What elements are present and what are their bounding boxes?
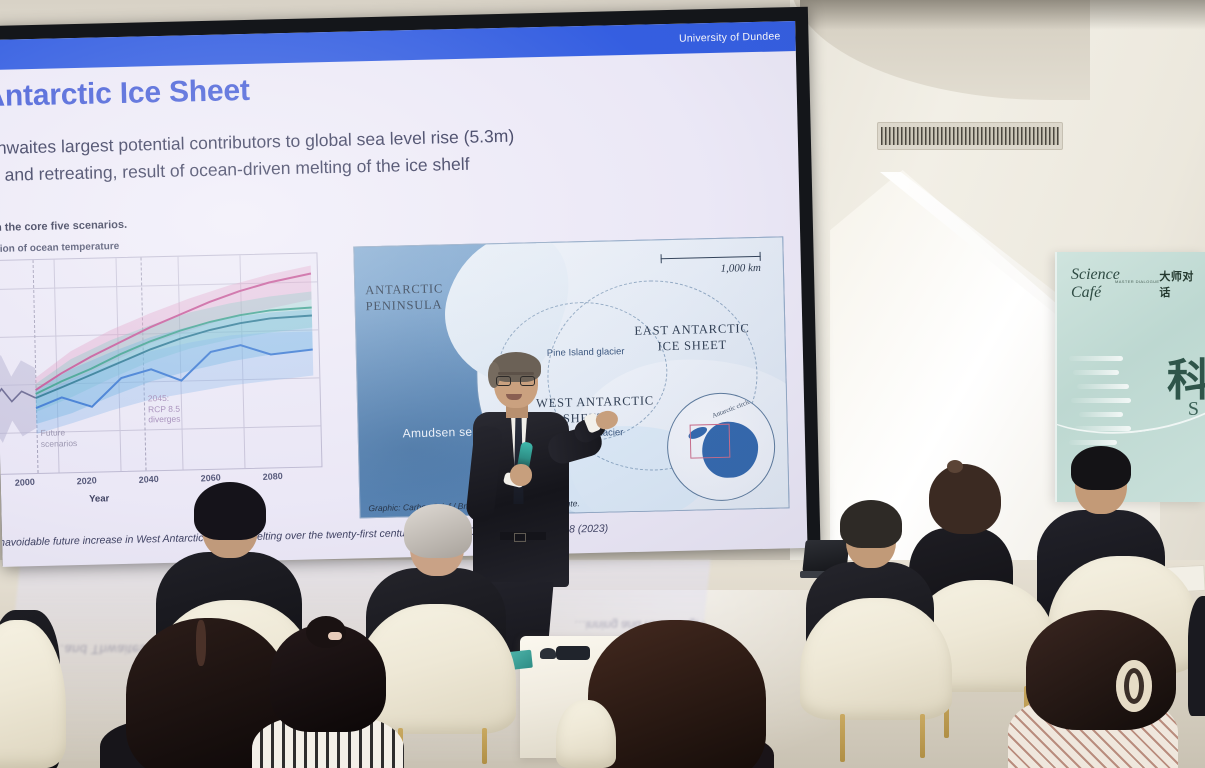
- chair-leg: [482, 728, 487, 764]
- x-tick-3: 2040: [138, 474, 159, 485]
- audience-hair: [929, 464, 1001, 534]
- audience-body: [1188, 596, 1205, 716]
- audience-hair: [194, 482, 266, 540]
- slide-brand-label: University of Dundee: [679, 30, 796, 45]
- projection-screen: University of Dundee …Antarctic Ice Shee…: [0, 21, 808, 567]
- projection-screen-frame: University of Dundee …Antarctic Ice Shee…: [0, 7, 820, 566]
- x-tick-1: 2000: [14, 477, 35, 488]
- poster-headline-chinese: 科: [1167, 344, 1205, 408]
- slide-header-bar: University of Dundee: [0, 21, 796, 70]
- x-tick-5: 2080: [262, 471, 283, 482]
- east-line-2: ICE SHEET: [635, 336, 751, 355]
- chair-foreground-centre: [556, 700, 616, 768]
- air-vent-grille: [877, 122, 1063, 150]
- x-tick-2: 2020: [76, 475, 97, 486]
- chair-leg: [840, 714, 845, 762]
- ocean-temperature-chart: …rature in the core five scenarios. Evol…: [0, 214, 334, 528]
- chart-x-axis-label: Year: [89, 493, 109, 504]
- peninsula-line-2: PENINSULA: [366, 297, 444, 314]
- slide-title: …Antarctic Ice Sheet: [0, 74, 250, 115]
- x-tick-4: 2060: [200, 472, 221, 483]
- conference-room-scene: …and Thwaites largest potential contribu…: [0, 0, 1205, 768]
- glasses-icon: [496, 376, 536, 387]
- peninsula-line-1: ANTARCTIC: [365, 281, 443, 298]
- slide-bullet-list: …and Thwaites largest potential contribu…: [0, 118, 766, 218]
- inset-region-highlight: [690, 424, 731, 459]
- chart-caption: …rature in the core five scenarios.: [0, 219, 127, 235]
- poster-logo-subtitle: MASTER DIALOGUE: [1115, 279, 1159, 284]
- hair-pin-icon: [328, 632, 342, 640]
- table-device-secondary: [540, 648, 556, 659]
- vent-louvers: [881, 127, 1059, 145]
- poster-logo-chinese: 大师对话: [1159, 268, 1205, 300]
- map-label-amudsen-sea: Amudsen sea: [403, 425, 480, 441]
- chart-subtitle: Evolution of ocean temperature: [0, 241, 119, 256]
- presenter-brow: [498, 372, 534, 375]
- hair-part: [196, 620, 206, 666]
- audience-hair-tie: [947, 460, 963, 473]
- poster-logo-mark: Science Café: [1071, 266, 1153, 302]
- poster-headline-latin: S: [1188, 398, 1199, 421]
- audience-hair: [404, 504, 472, 558]
- presenter-belt: [500, 532, 546, 540]
- map-label-antarctic-peninsula: ANTARCTIC PENINSULA: [365, 281, 443, 314]
- chart-annotation-2045: 2045:RCP 8.5diverges: [148, 392, 207, 425]
- chair-leg: [920, 714, 925, 758]
- chair-right-front: [800, 598, 952, 720]
- map-scale-label: 1,000 km: [720, 262, 761, 275]
- map-label-east-antarctic-ice-sheet: EAST ANTARCTIC ICE SHEET: [634, 320, 750, 355]
- audience-hair: [1026, 610, 1176, 730]
- inset-antarctic-circle-label: Antarctic circle: [711, 399, 751, 420]
- east-line-1: EAST ANTARCTIC: [634, 320, 750, 339]
- audience-hair: [1071, 446, 1131, 490]
- chart-annotation-future: Futurescenarios: [40, 427, 96, 450]
- presenter-left-hand: [510, 464, 532, 486]
- chart-plot-area: Futurescenarios 2045:RCP 8.5diverges: [0, 252, 322, 476]
- audience-hair: [840, 500, 902, 548]
- hair-clip-icon: [1116, 660, 1152, 712]
- poster-logo: Science Café 大师对话: [1071, 266, 1205, 302]
- chart-x-axis-ticks: 1980 2000 2020 2040 2060 2080: [0, 470, 323, 497]
- ceiling-shadow: [800, 0, 1205, 30]
- table-device: [556, 646, 590, 660]
